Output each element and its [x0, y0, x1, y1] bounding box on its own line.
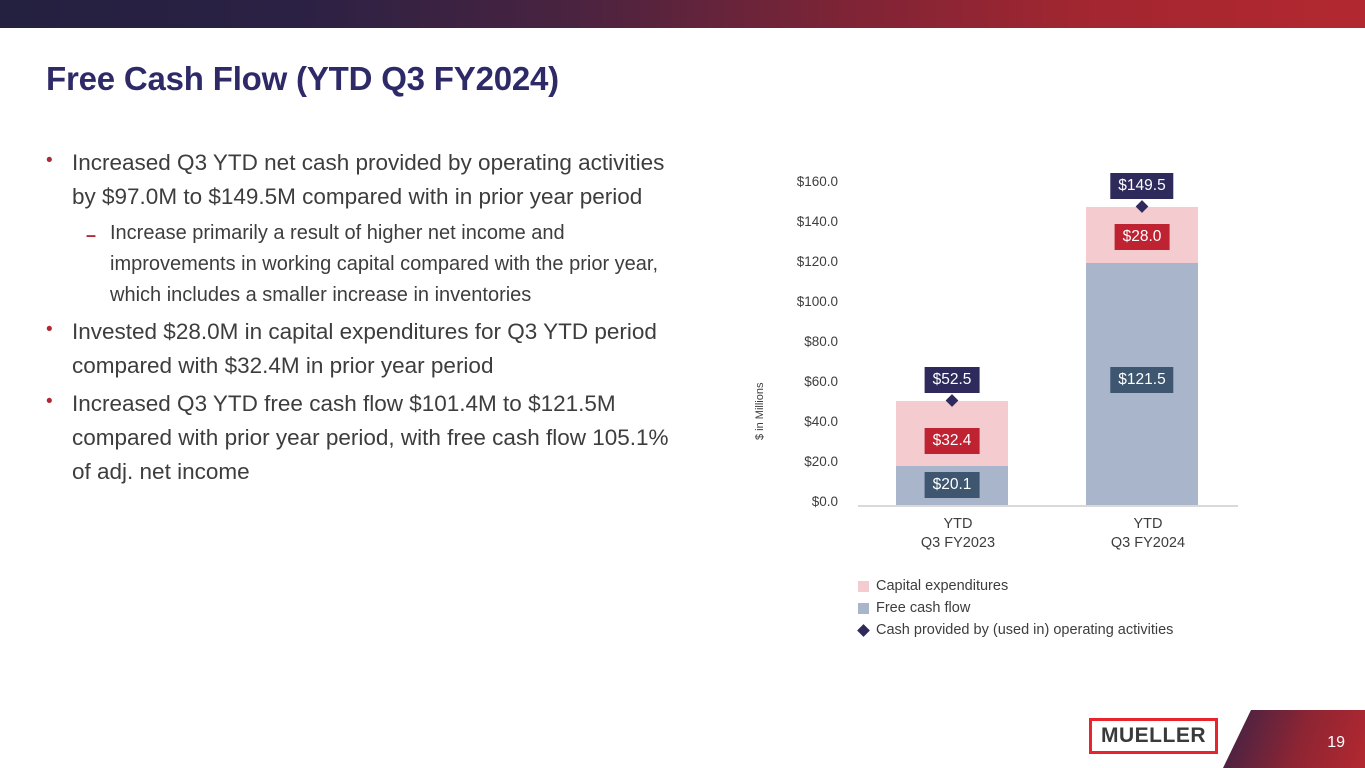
x-axis-category-fy2024: YTD Q3 FY2024 [1092, 515, 1204, 553]
slide: Free Cash Flow (YTD Q3 FY2024) Increased… [0, 0, 1365, 768]
y-axis-ticks: $160.0 $140.0 $120.0 $100.0 $80.0 $60.0 … [732, 150, 838, 550]
legend-item-free-cash-flow[interactable]: Free cash flow [858, 600, 1173, 616]
bar-label-operating-activities: $149.5 [1110, 173, 1173, 200]
y-tick-label: $0.0 [732, 494, 838, 509]
legend-swatch-icon [858, 603, 869, 614]
mueller-logo: MUELLER [1089, 718, 1218, 754]
category-line-2: Q3 FY2023 [902, 534, 1014, 553]
page-title: Free Cash Flow (YTD Q3 FY2024) [46, 60, 559, 98]
y-tick-label: $100.0 [732, 294, 838, 309]
bar-label-capital-expenditures: $28.0 [1115, 224, 1170, 251]
legend-diamond-icon [857, 624, 870, 637]
bullet-item: Invested $28.0M in capital expenditures … [46, 315, 686, 383]
bullet-list: Increased Q3 YTD net cash provided by op… [46, 146, 686, 493]
bullet-text: Invested $28.0M in capital expenditures … [72, 315, 686, 383]
bar-label-capital-expenditures: $32.4 [925, 428, 980, 455]
x-axis-category-fy2023: YTD Q3 FY2023 [902, 515, 1014, 553]
bullet-dot-icon [46, 315, 72, 335]
chart-legend: Capital expenditures Free cash flow Cash… [858, 578, 1173, 644]
bar-group-fy2023[interactable]: $20.1 $32.4 $52.5 [896, 401, 1008, 506]
y-tick-label: $160.0 [732, 174, 838, 189]
y-tick-label: $60.0 [732, 374, 838, 389]
bullet-text: Increased Q3 YTD free cash flow $101.4M … [72, 387, 686, 489]
bullet-item: Increased Q3 YTD free cash flow $101.4M … [46, 387, 686, 489]
bullet-dot-icon [46, 146, 72, 166]
category-line-2: Q3 FY2024 [1092, 534, 1204, 553]
y-tick-label: $20.0 [732, 454, 838, 469]
logo-text: MUELLER [1101, 725, 1206, 746]
page-number: 19 [1327, 734, 1345, 752]
dash-icon [86, 218, 110, 244]
legend-swatch-icon [858, 581, 869, 592]
category-line-1: YTD [902, 515, 1014, 534]
category-line-1: YTD [1092, 515, 1204, 534]
bullet-text: Increased Q3 YTD net cash provided by op… [72, 146, 686, 214]
bar-label-free-cash-flow: $20.1 [925, 472, 980, 499]
sub-bullet-text: Increase primarily a result of higher ne… [110, 218, 686, 311]
y-tick-label: $140.0 [732, 214, 838, 229]
legend-item-operating-activities[interactable]: Cash provided by (used in) operating act… [858, 622, 1173, 638]
bar-label-operating-activities: $52.5 [925, 367, 980, 394]
y-tick-label: $120.0 [732, 254, 838, 269]
bar-label-free-cash-flow: $121.5 [1110, 367, 1173, 394]
y-tick-label: $40.0 [732, 414, 838, 429]
legend-label: Free cash flow [876, 600, 970, 616]
x-axis-line [858, 505, 1238, 507]
legend-label: Capital expenditures [876, 578, 1008, 594]
top-banner-gradient [0, 0, 1365, 28]
y-tick-label: $80.0 [732, 334, 838, 349]
bullet-dot-icon [46, 387, 72, 407]
sub-bullet-item: Increase primarily a result of higher ne… [46, 218, 686, 311]
bar-group-fy2024[interactable]: $121.5 $28.0 $149.5 [1086, 207, 1198, 506]
plot-area: $20.1 $32.4 $52.5 $121.5 $28.0 $149.5 [858, 150, 1244, 506]
legend-label: Cash provided by (used in) operating act… [876, 622, 1173, 638]
legend-item-capital-expenditures[interactable]: Capital expenditures [858, 578, 1173, 594]
bullet-item: Increased Q3 YTD net cash provided by op… [46, 146, 686, 214]
